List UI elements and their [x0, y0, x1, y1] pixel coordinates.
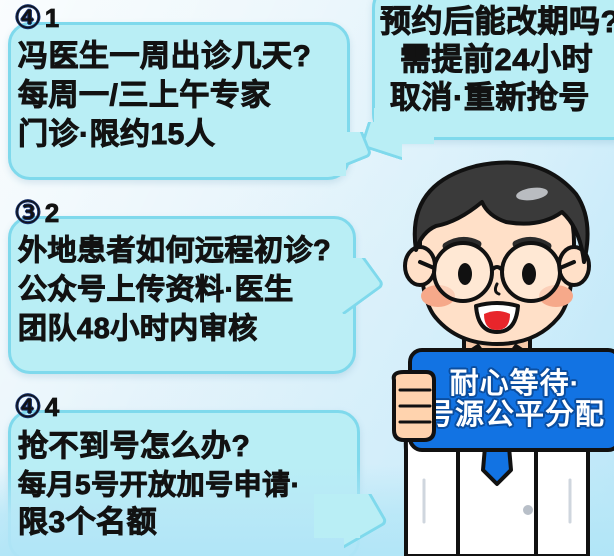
bubble-3-line-2: 每月5号开放加号申请· — [18, 471, 362, 499]
speech-bubble-2-text: 外地患者如何远程初诊? 公众号上传资料·医生 团队48小时内审核 — [18, 237, 358, 344]
doctor-hand — [386, 368, 436, 449]
sign-line-2: 号源公平分配 — [425, 400, 605, 431]
bubble-2-badge-number: 2 — [45, 200, 59, 226]
bubble-2-badge-circled: ③ — [14, 197, 42, 228]
bubble-3-badge: ④ 4 — [14, 391, 59, 422]
bubble-2-line-2: 公众号上传资料·医生 — [18, 276, 358, 305]
blue-sign-board: 耐心等待· 号源公平分配 — [408, 348, 614, 452]
bubble-top-right-line-1: 预约后能改期吗? — [380, 6, 614, 37]
bubble-3-line-1: 抢不到号怎么办? — [18, 432, 362, 462]
bubble-1-line-3: 门诊·限约15人 — [18, 120, 348, 150]
bubble-1-line-1: 冯医生一周出诊几天? — [18, 42, 348, 72]
bubble-1-badge-number: 1 — [45, 5, 59, 31]
sign-line-1: 耐心等待· — [450, 369, 581, 400]
bubble-2-badge: ③ 2 — [14, 197, 59, 228]
bubble-2-line-1: 外地患者如何远程初诊? — [18, 237, 358, 266]
bubble-top-right-line-3: 取消·重新抢号 — [390, 82, 614, 113]
bubble-3-badge-number: 4 — [45, 394, 59, 420]
bubble-top-right-line-2: 需提前24小时 — [400, 44, 614, 75]
bubble-1-badge-circled: ④ — [14, 2, 42, 33]
bubble-1-badge: ④ 1 — [14, 2, 59, 33]
bubble-3-line-3: 限3个名额 — [18, 508, 362, 538]
illustration-canvas: 预约后能改期吗? 需提前24小时 取消·重新抢号 ④ 1 冯医生一周出诊几天? … — [0, 0, 614, 556]
bubble-2-line-3: 团队48小时内审核 — [18, 315, 358, 344]
speech-bubble-3-text: 抢不到号怎么办? 每月5号开放加号申请· 限3个名额 — [18, 432, 362, 538]
bubble-1-line-2: 每周一/三上午专家 — [18, 81, 348, 111]
bubble-3-badge-circled: ④ — [14, 391, 42, 422]
speech-bubble-1-text: 冯医生一周出诊几天? 每周一/三上午专家 门诊·限约15人 — [18, 42, 348, 150]
speech-bubble-top-right-text: 预约后能改期吗? 需提前24小时 取消·重新抢号 — [378, 6, 614, 113]
